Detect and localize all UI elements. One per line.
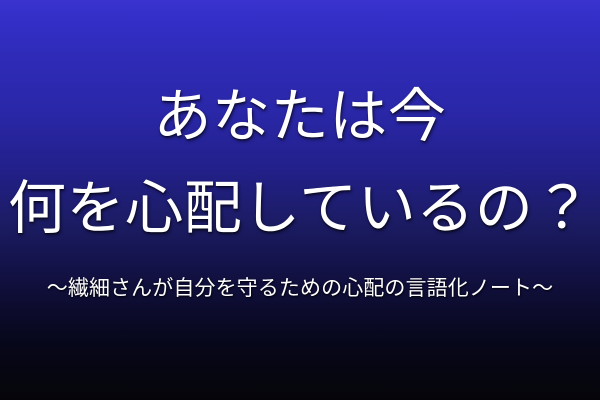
headline-line-1: あなたは今 — [0, 88, 600, 146]
subtitle: 〜繊細さんが自分を守るための心配の言語化ノート〜 — [0, 277, 600, 300]
headline-line-2: 何を心配しているの？ — [0, 180, 600, 238]
title-card: あなたは今 何を心配しているの？ 〜繊細さんが自分を守るための心配の言語化ノート… — [0, 0, 600, 400]
lower-empty-band — [0, 315, 600, 400]
